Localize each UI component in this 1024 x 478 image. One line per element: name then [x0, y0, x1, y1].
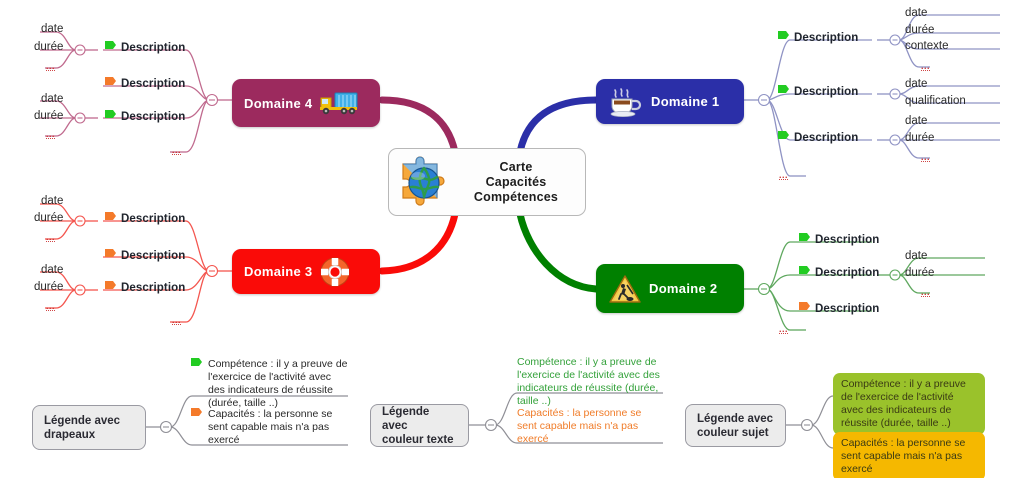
legend-flags-box[interactable]: Légende avec drapeaux [32, 405, 146, 450]
domain-3-label: Domaine 3 [244, 264, 312, 279]
branch-ellipsis[interactable]: ... [172, 316, 181, 325]
legend-text-color-capacites: Capacités : la personne se sent capable … [517, 407, 641, 446]
branch-row[interactable]: Description [104, 212, 185, 225]
branch-label: Description [794, 32, 858, 44]
domain-node-1[interactable]: Domaine 1 [596, 79, 744, 124]
central-topic-node[interactable]: Carte Capacités Compétences [388, 148, 586, 216]
domain-1-label: Domaine 1 [651, 94, 719, 109]
branch-label: Description [121, 282, 185, 294]
domain-node-4[interactable]: Domaine 4 [232, 79, 380, 127]
leaf-label[interactable]: date [41, 195, 63, 207]
leaf-label[interactable]: durée [34, 41, 63, 53]
leaf-label[interactable]: contexte [905, 40, 948, 52]
branch-label: Description [121, 213, 185, 225]
branch-label: Description [121, 250, 185, 262]
branch-row[interactable]: Description [104, 110, 185, 123]
green-flag-icon [777, 85, 789, 98]
domain-node-3[interactable]: Domaine 3 [232, 249, 380, 294]
legend-subject-color-box[interactable]: Légende avec couleur sujet [685, 404, 786, 447]
leaf-ellipsis[interactable]: ... [46, 302, 55, 311]
branch-row[interactable]: Description [798, 266, 879, 279]
leaf-label[interactable]: date [41, 23, 63, 35]
leaf-label[interactable]: durée [905, 132, 934, 144]
green-flag-icon [798, 266, 810, 279]
leaf-label[interactable]: durée [34, 212, 63, 224]
legend-text-color-title: Légende avec couleur texte [382, 405, 457, 447]
orange-flag-icon [190, 408, 202, 421]
branch-label: Description [815, 234, 879, 246]
branch-ellipsis[interactable]: ... [779, 171, 788, 180]
leaf-ellipsis[interactable]: ... [921, 153, 930, 162]
leaf-label[interactable]: date [905, 115, 927, 127]
orange-flag-icon [104, 249, 116, 262]
branch-row[interactable]: Description [777, 31, 858, 44]
puzzle-globe-icon [397, 154, 453, 210]
coffee-cup-icon [608, 87, 644, 117]
leaf-ellipsis[interactable]: ... [46, 233, 55, 242]
leaf-label[interactable]: date [41, 93, 63, 105]
domain-node-2[interactable]: Domaine 2 [596, 264, 744, 313]
green-flag-icon [104, 41, 116, 54]
green-flag-icon [777, 131, 789, 144]
central-topic-label: Carte Capacités Compétences [453, 160, 585, 205]
branch-row[interactable]: Description [777, 131, 858, 144]
legend-text-color-box[interactable]: Légende avec couleur texte [370, 404, 469, 447]
leaf-ellipsis[interactable]: ... [921, 288, 930, 297]
branch-label: Description [121, 42, 185, 54]
orange-flag-icon [104, 77, 116, 90]
leaf-label[interactable]: durée [34, 281, 63, 293]
leaf-ellipsis[interactable]: ... [46, 130, 55, 139]
legend-text-color-item[interactable]: Capacités : la personne se sent capable … [517, 407, 667, 446]
legend-flags-text: Capacités : la personne se sent capable … [208, 408, 332, 447]
green-flag-icon [798, 233, 810, 246]
legend-subject-chip-competence[interactable]: Compétence : il y a preuve de l'exercice… [833, 373, 985, 435]
branch-row[interactable]: Description [104, 77, 185, 90]
branch-row[interactable]: Description [798, 233, 879, 246]
roadwork-sign-icon [608, 273, 642, 305]
branch-row[interactable]: Description [777, 85, 858, 98]
leaf-label[interactable]: qualification [905, 95, 966, 107]
lifebuoy-icon [319, 256, 351, 288]
leaf-ellipsis[interactable]: ... [921, 62, 930, 71]
branch-row[interactable]: Description [104, 41, 185, 54]
branch-row[interactable]: Description [104, 249, 185, 262]
legend-flags-text: Compétence : il y a preuve de l'exercice… [208, 358, 348, 410]
orange-flag-icon [104, 212, 116, 225]
leaf-label[interactable]: date [905, 250, 927, 262]
leaf-label[interactable]: date [905, 78, 927, 90]
legend-subject-chip-capacites[interactable]: Capacités : la personne se sent capable … [833, 432, 985, 478]
branch-label: Description [121, 78, 185, 90]
domain-4-label: Domaine 4 [244, 96, 312, 111]
leaf-label[interactable]: date [41, 264, 63, 276]
domain-2-label: Domaine 2 [649, 281, 717, 296]
legend-subject-color-title: Légende avec couleur sujet [697, 412, 773, 440]
legend-text-color-item[interactable]: Compétence : il y a preuve de l'exercice… [517, 356, 667, 408]
leaf-label[interactable]: durée [34, 110, 63, 122]
branch-label: Description [794, 86, 858, 98]
branch-ellipsis[interactable]: ... [779, 325, 788, 334]
legend-text-color-competence: Compétence : il y a preuve de l'exercice… [517, 356, 660, 408]
orange-flag-icon [798, 302, 810, 315]
leaf-label[interactable]: durée [905, 24, 934, 36]
legend-flags-title: Légende avec drapeaux [44, 414, 120, 442]
branch-label: Description [815, 267, 879, 279]
leaf-label[interactable]: date [905, 7, 927, 19]
green-flag-icon [104, 110, 116, 123]
legend-flags-item[interactable]: Compétence : il y a preuve de l'exercice… [190, 358, 350, 410]
branch-row[interactable]: Description [104, 281, 185, 294]
green-flag-icon [777, 31, 789, 44]
mindmap-canvas: Carte Capacités Compétences Domaine 4 [0, 0, 1024, 478]
branch-label: Description [794, 132, 858, 144]
orange-flag-icon [104, 281, 116, 294]
branch-ellipsis[interactable]: ... [172, 146, 181, 155]
legend-flags-item[interactable]: Capacités : la personne se sent capable … [190, 408, 350, 447]
leaf-ellipsis[interactable]: ... [46, 62, 55, 71]
green-flag-icon [190, 358, 202, 371]
branch-label: Description [815, 303, 879, 315]
branch-label: Description [121, 111, 185, 123]
truck-icon [319, 90, 359, 116]
leaf-label[interactable]: durée [905, 267, 934, 279]
branch-row[interactable]: Description [798, 302, 879, 315]
